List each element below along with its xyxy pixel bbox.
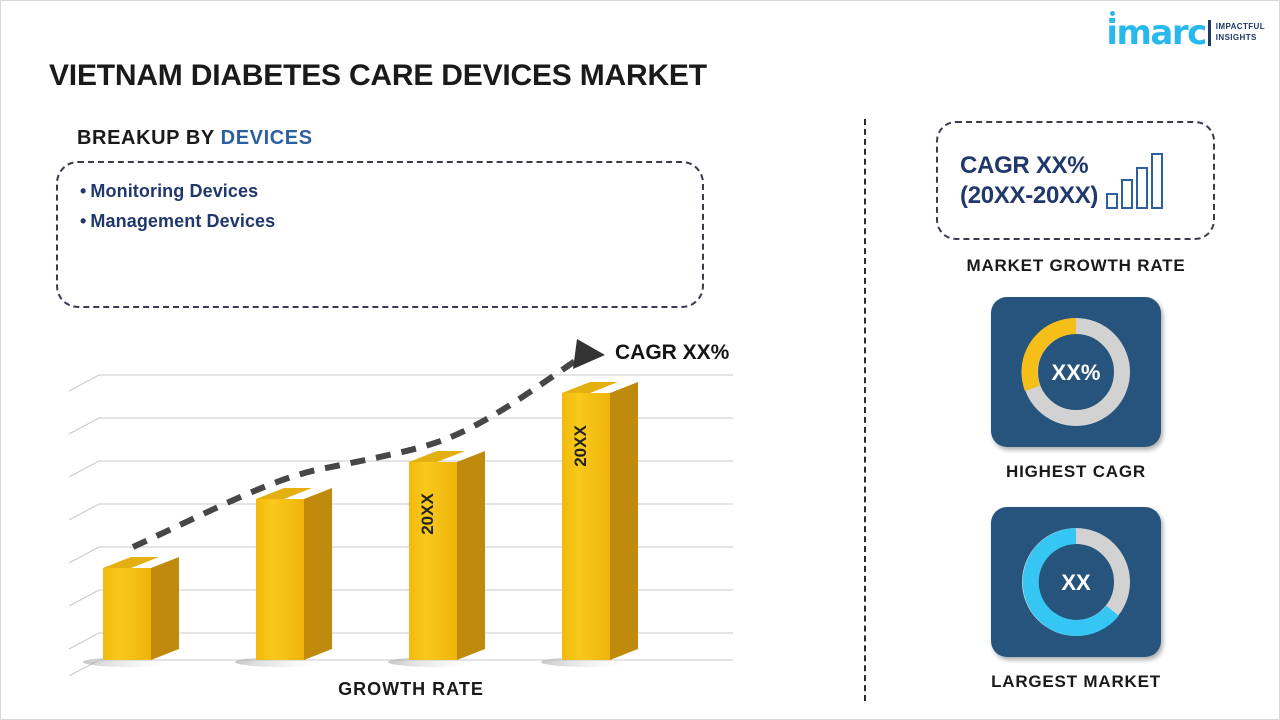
- bar-3-label: 20XX: [418, 493, 437, 535]
- bar-4-label: 20XX: [571, 425, 590, 467]
- bar-1: [103, 557, 179, 660]
- cagr-summary-text: CAGR XX% (20XX-20XX): [960, 151, 1098, 211]
- largest-market-tile: XX: [991, 507, 1161, 657]
- highest-cagr-caption: HIGHEST CAGR: [926, 462, 1226, 482]
- chart-xaxis-label: GROWTH RATE: [61, 679, 761, 700]
- trend-arrow: [133, 339, 605, 547]
- logo-wordmark-text: imarc: [1106, 13, 1205, 53]
- logo-tagline: IMPACTFUL INSIGHTS: [1216, 22, 1265, 44]
- bullet-icon: •: [80, 181, 86, 201]
- growth-rate-bar-chart: 20XX 20XX CAGR XX% GROWTH RATE: [61, 331, 761, 711]
- cagr-period: (20XX-20XX): [960, 181, 1098, 211]
- largest-market-caption: LARGEST MARKET: [926, 672, 1226, 692]
- largest-market-value: XX: [1061, 570, 1091, 595]
- bar-shadows: [83, 657, 637, 667]
- logo-wordmark: imarc: [1106, 16, 1205, 50]
- page-title: VIETNAM DIABETES CARE DEVICES MARKET: [49, 59, 707, 93]
- breakup-heading-prefix: BREAKUP BY: [77, 127, 221, 149]
- list-item: •Management Devices: [80, 207, 702, 237]
- bar-2: [256, 488, 332, 660]
- bar-4: 20XX: [562, 382, 638, 660]
- imarc-logo: imarc IMPACTFUL INSIGHTS: [1106, 13, 1265, 53]
- largest-market-donut: XX: [1017, 523, 1135, 641]
- logo-tagline-line2: INSIGHTS: [1216, 33, 1265, 44]
- list-item: •Monitoring Devices: [80, 177, 702, 207]
- chart-svg: 20XX 20XX: [61, 331, 761, 676]
- slide-canvas: imarc IMPACTFUL INSIGHTS VIETNAM DIABETE…: [0, 0, 1280, 720]
- panel-divider: [864, 119, 866, 701]
- chart-cagr-annotation: CAGR XX%: [615, 341, 729, 365]
- devices-list-box: •Monitoring Devices •Management Devices: [56, 161, 704, 308]
- highest-cagr-value: XX%: [1052, 360, 1101, 385]
- cagr-value: CAGR XX%: [960, 151, 1098, 181]
- arrowhead-icon: [573, 339, 605, 369]
- market-growth-rate-caption: MARKET GROWTH RATE: [926, 256, 1226, 276]
- highest-cagr-donut: XX%: [1017, 313, 1135, 431]
- logo-tagline-line1: IMPACTFUL: [1216, 22, 1265, 33]
- list-item-label: Management Devices: [90, 211, 275, 231]
- bullet-icon: •: [80, 211, 86, 231]
- breakup-heading: BREAKUP BY DEVICES: [77, 127, 313, 150]
- highest-cagr-tile: XX%: [991, 297, 1161, 447]
- bar-3: 20XX: [409, 451, 485, 660]
- list-item-label: Monitoring Devices: [90, 181, 258, 201]
- logo-divider: [1208, 20, 1211, 46]
- ascending-bars-icon: [1106, 153, 1163, 209]
- breakup-heading-accent: DEVICES: [221, 127, 313, 149]
- cagr-summary-box: CAGR XX% (20XX-20XX): [936, 121, 1215, 240]
